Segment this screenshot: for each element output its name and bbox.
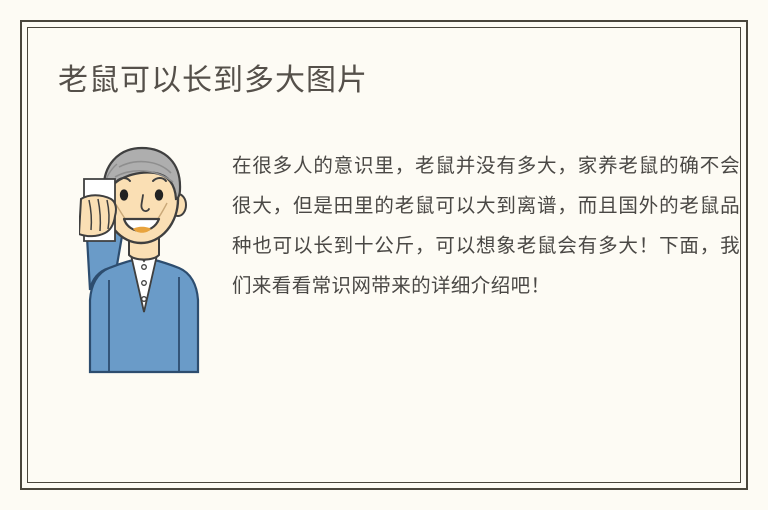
page-root: 老鼠可以长到多大图片	[0, 0, 768, 510]
eye-left	[120, 189, 128, 200]
elderly-man-on-phone-illustration	[79, 137, 209, 377]
shirt-button-3	[142, 297, 147, 302]
shirt-button-1	[142, 265, 147, 270]
eye-right	[155, 189, 163, 200]
page-title: 老鼠可以长到多大图片	[58, 63, 368, 99]
hand	[79, 195, 116, 236]
article-body-text: 在很多人的意识里，老鼠并没有多大，家养老鼠的确不会很大，但是田里的老鼠可以大到离…	[232, 146, 740, 306]
article-content: 老鼠可以长到多大图片	[27, 27, 741, 483]
shirt-button-2	[142, 281, 147, 286]
